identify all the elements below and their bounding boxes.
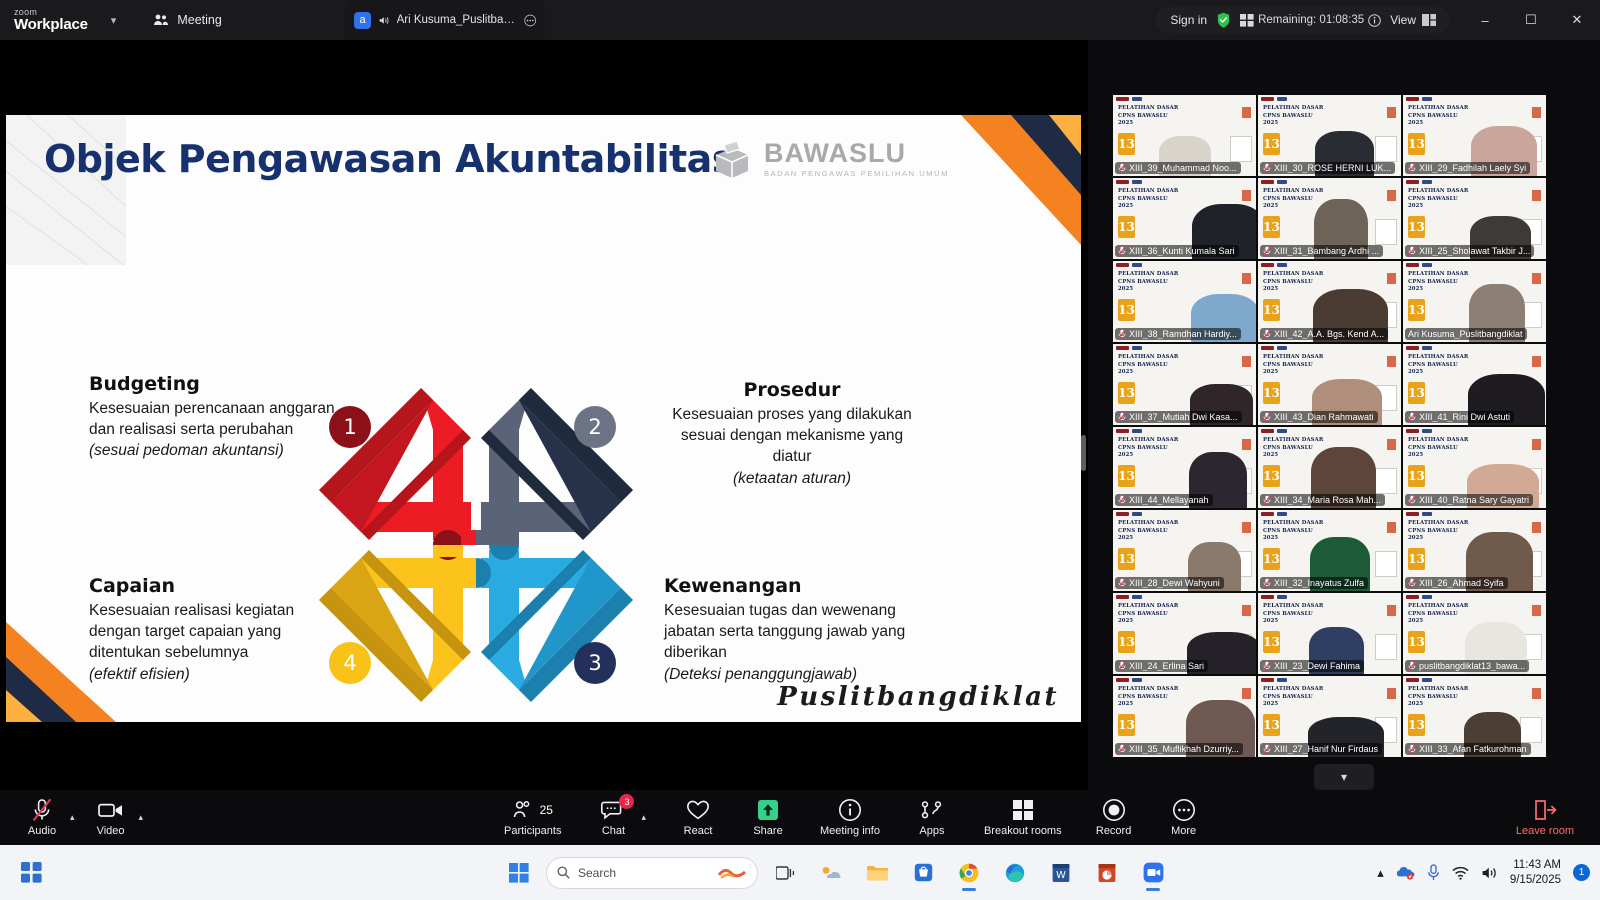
participant-name-bar: XIII_34_Maria Rosa Mah... bbox=[1260, 494, 1385, 506]
tab-active-meeting[interactable]: a Ari Kusuma_Puslitbangdiklat bbox=[345, 0, 545, 40]
participant-name-bar: XIII_36_Kunti Kumala Sari bbox=[1115, 245, 1239, 257]
participant-tile[interactable]: PELATIHAN DASARCPNS BAWASLU202513XIII_37… bbox=[1113, 344, 1256, 425]
more-label: More bbox=[1171, 825, 1196, 837]
slide-block-prosedur: Prosedur Kesesuaian proses yang dilakuka… bbox=[661, 379, 923, 489]
react-button[interactable]: React bbox=[676, 795, 720, 840]
participant-tile[interactable]: PELATIHAN DASARCPNS BAWASLU202513XIII_38… bbox=[1113, 261, 1256, 342]
participants-count: 25 bbox=[540, 803, 553, 817]
breakout-rooms-button[interactable]: Breakout rooms bbox=[980, 795, 1066, 840]
participant-name-bar: XIII_39_Muhammad Noo... bbox=[1115, 162, 1241, 174]
participant-tile[interactable]: PELATIHAN DASARCPNS BAWASLU202513XIII_34… bbox=[1258, 427, 1401, 508]
close-icon[interactable]: ✕ bbox=[1554, 0, 1600, 40]
participant-tile[interactable]: PELATIHAN DASARCPNS BAWASLU202513XIII_25… bbox=[1403, 178, 1546, 259]
block-body: Kesesuaian perencanaan anggaran dan real… bbox=[89, 400, 335, 438]
slide-block-kewenangan: Kewenangan Kesesuaian tugas dan wewenang… bbox=[664, 575, 926, 685]
meeting-info-label: Meeting info bbox=[820, 825, 880, 837]
microphone-muted-icon bbox=[31, 798, 53, 822]
more-horizontal-icon[interactable] bbox=[524, 13, 536, 28]
participant-name-bar: XIII_27_Hanif Nur Firdaus bbox=[1260, 743, 1382, 755]
microphone-muted-icon bbox=[1408, 246, 1416, 256]
participant-name: XIII_27_Hanif Nur Firdaus bbox=[1274, 744, 1378, 754]
microphone-muted-icon bbox=[1263, 578, 1271, 588]
participant-name: XIII_42_A.A. Bgs. Kend A... bbox=[1274, 329, 1384, 339]
layout-icon bbox=[1422, 14, 1436, 26]
microsoft-word-icon[interactable]: W bbox=[1042, 853, 1080, 893]
copilot-icon[interactable] bbox=[717, 865, 747, 881]
block-heading: Kewenangan bbox=[664, 575, 926, 597]
microphone-muted-icon bbox=[1408, 495, 1416, 505]
audio-label: Audio bbox=[28, 825, 56, 837]
breakout-rooms-label: Breakout rooms bbox=[984, 825, 1062, 837]
microsoft-powerpoint-icon[interactable] bbox=[1088, 853, 1126, 893]
participant-name-bar: XIII_29_Fadhilah Laely Syi bbox=[1405, 162, 1530, 174]
taskbar-system-tray: ▴ bbox=[1377, 858, 1590, 888]
microphone-icon[interactable] bbox=[1427, 864, 1440, 881]
record-label: Record bbox=[1096, 825, 1131, 837]
google-chrome-icon[interactable] bbox=[950, 853, 988, 893]
avatar: a bbox=[354, 12, 371, 29]
participant-tile[interactable]: PELATIHAN DASARCPNS BAWASLU202513XIII_26… bbox=[1403, 510, 1546, 591]
leave-room-button[interactable]: Leave room bbox=[1512, 795, 1578, 840]
participant-tile[interactable]: PELATIHAN DASARCPNS BAWASLU202513puslitb… bbox=[1403, 593, 1546, 674]
meeting-info-button[interactable]: Meeting info bbox=[816, 795, 884, 840]
block-note: (Deteksi penanggungjawab) bbox=[664, 666, 857, 683]
participant-name: puslitbangdiklat13_bawa... bbox=[1419, 661, 1525, 671]
arrow-badge-2: 2 bbox=[574, 406, 616, 448]
microphone-muted-icon bbox=[1118, 163, 1126, 173]
video-button[interactable]: Video bbox=[89, 795, 133, 840]
meeting-control-bar: Audio ▴ Video ▴ bbox=[0, 790, 1600, 845]
video-options-chevron-up-icon[interactable]: ▴ bbox=[135, 812, 148, 823]
participant-tile[interactable]: PELATIHAN DASARCPNS BAWASLU202513XIII_23… bbox=[1258, 593, 1401, 674]
remaining-time: Remaining: 01:08:35 bbox=[1240, 14, 1381, 27]
slide-footer-brand: Puslitbangdiklat bbox=[777, 682, 1059, 712]
participant-name-bar: XIII_44_Mellayanah bbox=[1115, 494, 1213, 506]
block-note: (sesuai pedoman akuntansi) bbox=[89, 442, 284, 459]
search-icon bbox=[557, 866, 570, 879]
block-heading: Prosedur bbox=[661, 379, 923, 401]
participant-name: XIII_40_Ratna Sary Gayatri bbox=[1419, 495, 1529, 505]
title-bar: zoom Workplace ▾ Meeting a Ari Kusuma_Pu… bbox=[0, 0, 1600, 40]
microphone-muted-icon bbox=[1408, 412, 1416, 422]
participant-name: XIII_32_Inayatus Zulfa bbox=[1274, 578, 1364, 588]
onedrive-sync-icon[interactable] bbox=[1396, 865, 1415, 880]
microphone-muted-icon bbox=[1118, 661, 1126, 671]
chat-unread-badge: 3 bbox=[619, 794, 634, 809]
tab-meeting[interactable]: Meeting bbox=[137, 0, 237, 40]
participant-name-bar: XIII_26_Ahmad Syifa bbox=[1405, 577, 1508, 589]
apps-label: Apps bbox=[919, 825, 944, 837]
slide-title: Objek Pengawasan Akuntabilitas bbox=[44, 137, 734, 181]
file-explorer-icon[interactable] bbox=[858, 853, 896, 893]
arrow-badge-1: 1 bbox=[329, 406, 371, 448]
participant-name-bar: Ari Kusuma_Puslitbangdiklat bbox=[1405, 328, 1527, 340]
block-note: (efektif efisien) bbox=[89, 666, 190, 683]
wifi-icon[interactable] bbox=[1452, 866, 1469, 880]
participant-tile[interactable]: PELATIHAN DASARCPNS BAWASLU202513XIII_31… bbox=[1258, 178, 1401, 259]
shared-screen-stage: Objek Pengawasan Akuntabilitas BAWASLU B… bbox=[0, 40, 1088, 790]
ballot-box-icon bbox=[710, 139, 754, 179]
chat-button[interactable]: 3 Chat bbox=[591, 795, 635, 840]
more-horizontal-icon bbox=[1172, 798, 1196, 822]
participant-name-bar: XIII_28_Dewi Wahyuni bbox=[1115, 577, 1224, 589]
microphone-muted-icon bbox=[1408, 578, 1416, 588]
participant-name: XIII_39_Muhammad Noo... bbox=[1129, 163, 1237, 173]
windows-taskbar: Search bbox=[0, 845, 1600, 900]
breakout-rooms-icon bbox=[1011, 798, 1035, 822]
participants-button[interactable]: 25 Participants bbox=[500, 795, 565, 840]
microphone-muted-icon bbox=[1263, 329, 1271, 339]
apps-icon bbox=[919, 799, 945, 821]
microphone-muted-icon bbox=[1263, 246, 1271, 256]
sign-in-button[interactable]: Sign in bbox=[1170, 13, 1207, 27]
control-left-group: Audio ▴ Video ▴ bbox=[20, 795, 147, 840]
speaker-icon bbox=[378, 14, 390, 27]
grid-timer-icon bbox=[1240, 14, 1254, 27]
participant-name-bar: XIII_35_Muflikhah Dzurriy... bbox=[1115, 743, 1243, 755]
view-button[interactable]: View bbox=[1390, 13, 1436, 27]
microphone-muted-icon bbox=[1118, 578, 1126, 588]
video-label: Video bbox=[97, 825, 125, 837]
participant-tile[interactable]: PELATIHAN DASARCPNS BAWASLU202513XIII_27… bbox=[1258, 676, 1401, 757]
clock-date: 9/15/2025 bbox=[1510, 874, 1561, 886]
participant-name-bar: XIII_25_Sholawat Takbir J... bbox=[1405, 245, 1534, 257]
chevron-down-icon[interactable]: ▾ bbox=[1314, 764, 1374, 790]
windows-start-icon[interactable] bbox=[500, 853, 538, 893]
search-placeholder: Search bbox=[578, 866, 616, 880]
participant-name: XIII_37_Mutiah Dwi Kasa... bbox=[1129, 412, 1238, 422]
participant-name-bar: XIII_24_Erlina Sari bbox=[1115, 660, 1208, 672]
participant-tile[interactable]: PELATIHAN DASARCPNS BAWASLU202513XIII_33… bbox=[1403, 676, 1546, 757]
participant-name: XIII_36_Kunti Kumala Sari bbox=[1129, 246, 1235, 256]
clock-time: 11:43 AM bbox=[1513, 859, 1561, 871]
record-button[interactable]: Record bbox=[1092, 795, 1136, 840]
participant-tile[interactable]: PELATIHAN DASARCPNS BAWASLU202513XIII_43… bbox=[1258, 344, 1401, 425]
participant-tile[interactable]: PELATIHAN DASARCPNS BAWASLU202513XIII_44… bbox=[1113, 427, 1256, 508]
taskbar-left bbox=[12, 853, 50, 893]
zoom-app-icon[interactable] bbox=[1134, 853, 1172, 893]
participant-name-bar: XIII_38_Ramdhan Hardiy... bbox=[1115, 328, 1241, 340]
participant-tile[interactable]: PELATIHAN DASARCPNS BAWASLU202513Ari Kus… bbox=[1403, 261, 1546, 342]
participant-tile[interactable]: PELATIHAN DASARCPNS BAWASLU202513XIII_39… bbox=[1113, 95, 1256, 176]
four-arrow-diagram: 1 2 3 4 bbox=[311, 380, 641, 710]
control-center-group: 25 Participants 3 Chat ▴ bbox=[500, 795, 1206, 840]
participant-tile[interactable]: PELATIHAN DASARCPNS BAWASLU202513XIII_32… bbox=[1258, 510, 1401, 591]
tab-active-label: Ari Kusuma_Puslitbangdiklat bbox=[397, 14, 517, 26]
participant-name: XIII_44_Mellayanah bbox=[1129, 495, 1209, 505]
microphone-muted-icon bbox=[1408, 661, 1416, 671]
zoom-workplace-logo: zoom Workplace bbox=[14, 8, 88, 32]
audio-options-chevron-up-icon[interactable]: ▴ bbox=[66, 812, 79, 823]
store-icon[interactable] bbox=[904, 853, 942, 893]
participant-tile[interactable]: PELATIHAN DASARCPNS BAWASLU202513XIII_29… bbox=[1403, 95, 1546, 176]
slide-decor-top-right bbox=[901, 115, 1081, 245]
participant-tile[interactable]: PELATIHAN DASARCPNS BAWASLU202513XIII_41… bbox=[1403, 344, 1546, 425]
block-body: Kesesuaian tugas dan wewenang jabatan se… bbox=[664, 602, 905, 661]
participant-name: XIII_28_Dewi Wahyuni bbox=[1129, 578, 1220, 588]
slide-block-budgeting: Budgeting Kesesuaian perencanaan anggara… bbox=[89, 373, 339, 462]
participant-name: XIII_30_ROSE HERNI LUK... bbox=[1274, 163, 1391, 173]
more-button[interactable]: More bbox=[1162, 795, 1206, 840]
share-screen-icon bbox=[756, 798, 780, 822]
microphone-muted-icon bbox=[1408, 744, 1416, 754]
arrow-2-slate bbox=[481, 388, 633, 540]
shield-check-icon bbox=[1216, 12, 1231, 28]
participant-name: XIII_38_Ramdhan Hardiy... bbox=[1129, 329, 1237, 339]
block-heading: Capaian bbox=[89, 575, 339, 597]
participants-label: Participants bbox=[504, 825, 561, 837]
participant-name: XIII_43_Dian Rahmawati bbox=[1274, 412, 1374, 422]
participant-name: XIII_24_Erlina Sari bbox=[1129, 661, 1204, 671]
record-icon bbox=[1102, 798, 1126, 822]
titlebar-right-group: Sign in Remaining: 01:08:35 bbox=[1156, 0, 1600, 40]
bawaslu-logo: BAWASLU BADAN PENGAWAS PEMILIHAN UMUM bbox=[710, 139, 949, 179]
microphone-muted-icon bbox=[1263, 744, 1271, 754]
taskbar-center: Search bbox=[500, 853, 1172, 893]
participant-name-bar: XIII_30_ROSE HERNI LUK... bbox=[1260, 162, 1395, 174]
chat-options-chevron-up-icon[interactable]: ▴ bbox=[637, 812, 650, 823]
bawaslu-tagline: BADAN PENGAWAS PEMILIHAN UMUM bbox=[764, 169, 949, 178]
microphone-muted-icon bbox=[1263, 661, 1271, 671]
participant-name: Ari Kusuma_Puslitbangdiklat bbox=[1408, 329, 1523, 339]
share-screen-button[interactable]: Share bbox=[746, 795, 790, 840]
participant-tile[interactable]: PELATIHAN DASARCPNS BAWASLU202513XIII_30… bbox=[1258, 95, 1401, 176]
participant-name: XIII_34_Maria Rosa Mah... bbox=[1274, 495, 1381, 505]
chevron-down-icon[interactable]: ▾ bbox=[104, 9, 124, 32]
camera-icon bbox=[98, 801, 124, 819]
widgets-icon[interactable] bbox=[12, 853, 50, 893]
tab-meeting-label: Meeting bbox=[177, 13, 221, 27]
widgets-weather-icon[interactable] bbox=[812, 853, 850, 893]
block-body: Kesesuaian proses yang dilakukan sesuai … bbox=[672, 406, 912, 465]
arrow-badge-4: 4 bbox=[329, 642, 371, 684]
participant-tile[interactable]: PELATIHAN DASARCPNS BAWASLU202513XIII_35… bbox=[1113, 676, 1256, 757]
people-icon bbox=[513, 800, 537, 820]
zoom-wordmark: Workplace bbox=[14, 17, 88, 32]
apps-button[interactable]: Apps bbox=[910, 795, 954, 840]
stage-scrollbar-thumb[interactable] bbox=[1081, 435, 1086, 471]
chat-label: Chat bbox=[602, 825, 625, 837]
participant-name-bar: XIII_33_Afan Fatkurohman bbox=[1405, 743, 1531, 755]
participant-tile[interactable]: PELATIHAN DASARCPNS BAWASLU202513XIII_28… bbox=[1113, 510, 1256, 591]
participant-tile[interactable]: PELATIHAN DASARCPNS BAWASLU202513XIII_40… bbox=[1403, 427, 1546, 508]
slide-block-capaian: Capaian Kesesuaian realisasi kegiatan de… bbox=[89, 575, 339, 685]
participant-name: XIII_33_Afan Fatkurohman bbox=[1419, 744, 1527, 754]
participant-name-bar: XIII_23_Dewi Fahima bbox=[1260, 660, 1364, 672]
share-label: Share bbox=[753, 825, 782, 837]
microphone-muted-icon bbox=[1263, 163, 1271, 173]
react-label: React bbox=[684, 825, 713, 837]
block-body: Kesesuaian realisasi kegiatan dengan tar… bbox=[89, 602, 294, 661]
participant-name: XIII_31_Bambang Ardhi ... bbox=[1274, 246, 1379, 256]
participant-name: XIII_41_Rini Dwi Astuti bbox=[1419, 412, 1510, 422]
participant-tile[interactable]: PELATIHAN DASARCPNS BAWASLU202513XIII_42… bbox=[1258, 261, 1401, 342]
microphone-muted-icon bbox=[1118, 246, 1126, 256]
bawaslu-name: BAWASLU bbox=[764, 140, 949, 167]
microphone-muted-icon bbox=[1263, 495, 1271, 505]
participant-name-bar: XIII_41_Rini Dwi Astuti bbox=[1405, 411, 1514, 423]
participant-name: XIII_23_Dewi Fahima bbox=[1274, 661, 1360, 671]
notification-badge[interactable]: 1 bbox=[1573, 864, 1590, 881]
participant-name: XIII_25_Sholawat Takbir J... bbox=[1419, 246, 1530, 256]
participant-name-bar: XIII_31_Bambang Ardhi ... bbox=[1260, 245, 1383, 257]
participant-name: XIII_35_Muflikhah Dzurriy... bbox=[1129, 744, 1239, 754]
microphone-muted-icon bbox=[1118, 744, 1126, 754]
remaining-time-label: Remaining: 01:08:35 bbox=[1258, 14, 1364, 26]
block-heading: Budgeting bbox=[89, 373, 339, 395]
participant-name: XIII_26_Ahmad Syifa bbox=[1419, 578, 1504, 588]
arrow-badge-3: 3 bbox=[574, 642, 616, 684]
minimize-icon[interactable]: – bbox=[1462, 0, 1508, 40]
leave-door-icon bbox=[1533, 799, 1557, 821]
microsoft-edge-icon[interactable] bbox=[996, 853, 1034, 893]
participant-name-bar: XIII_40_Ratna Sary Gayatri bbox=[1405, 494, 1533, 506]
participant-name-bar: puslitbangdiklat13_bawa... bbox=[1405, 660, 1529, 672]
control-right-group: Leave room bbox=[1512, 795, 1578, 840]
info-circle-icon[interactable] bbox=[1368, 14, 1381, 27]
heart-icon bbox=[686, 799, 710, 821]
svg-text:W: W bbox=[1056, 870, 1066, 881]
participant-grid: PELATIHAN DASARCPNS BAWASLU202513XIII_39… bbox=[1113, 95, 1546, 757]
restore-icon[interactable]: ☐ bbox=[1508, 0, 1554, 40]
participant-video-grid-panel: PELATIHAN DASARCPNS BAWASLU202513XIII_39… bbox=[1088, 40, 1600, 790]
presentation-slide: Objek Pengawasan Akuntabilitas BAWASLU B… bbox=[6, 115, 1081, 722]
participant-name-bar: XIII_43_Dian Rahmawati bbox=[1260, 411, 1378, 423]
participant-name: XIII_29_Fadhilah Laely Syi bbox=[1419, 163, 1526, 173]
participant-name-bar: XIII_37_Mutiah Dwi Kasa... bbox=[1115, 411, 1242, 423]
volume-icon[interactable] bbox=[1481, 866, 1498, 880]
microphone-muted-icon bbox=[1408, 163, 1416, 173]
microphone-muted-icon bbox=[1118, 329, 1126, 339]
people-icon bbox=[153, 13, 169, 27]
taskbar-clock[interactable]: 11:43 AM 9/15/2025 bbox=[1510, 858, 1561, 888]
microphone-muted-icon bbox=[1118, 412, 1126, 422]
status-pill: Sign in Remaining: 01:08:35 bbox=[1156, 7, 1450, 33]
task-view-icon[interactable] bbox=[766, 853, 804, 893]
leave-room-label: Leave room bbox=[1516, 825, 1574, 837]
microphone-muted-icon bbox=[1118, 495, 1126, 505]
audio-button[interactable]: Audio bbox=[20, 795, 64, 840]
participant-name-bar: XIII_32_Inayatus Zulfa bbox=[1260, 577, 1368, 589]
info-circle-icon bbox=[838, 798, 862, 822]
view-label: View bbox=[1390, 13, 1416, 27]
microphone-muted-icon bbox=[1263, 412, 1271, 422]
chevron-up-icon[interactable]: ▴ bbox=[1377, 865, 1384, 881]
participant-name-bar: XIII_42_A.A. Bgs. Kend A... bbox=[1260, 328, 1388, 340]
search-input[interactable]: Search bbox=[546, 857, 758, 889]
block-note: (ketaatan aturan) bbox=[733, 470, 851, 487]
arrow-3-blue bbox=[481, 550, 633, 702]
participant-tile[interactable]: PELATIHAN DASARCPNS BAWASLU202513XIII_24… bbox=[1113, 593, 1256, 674]
participant-tile[interactable]: PELATIHAN DASARCPNS BAWASLU202513XIII_36… bbox=[1113, 178, 1256, 259]
